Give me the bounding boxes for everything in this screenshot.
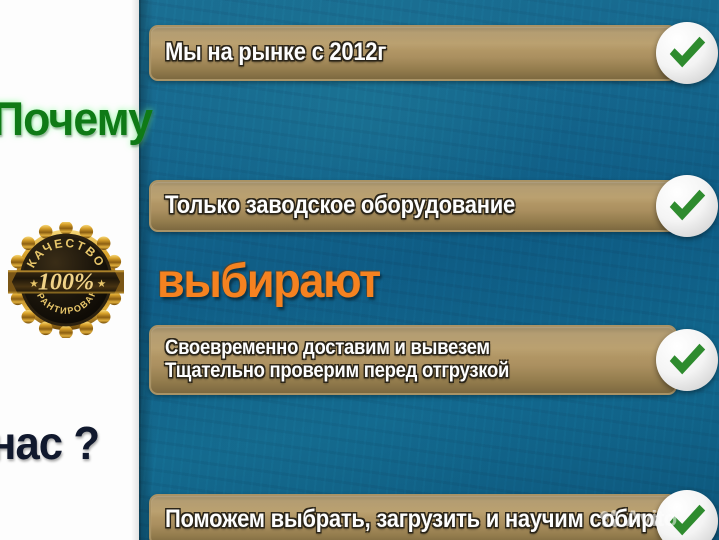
blue-panel-left-shadow [139,0,153,540]
check-mark-icon-4 [656,490,718,540]
feature-banner-3-line-2: Тщательно проверим перед отгрузкой [165,360,509,383]
feature-banner-2: Только заводское оборудование [149,180,677,232]
feature-banner-2-text: Только заводское оборудование [165,193,515,219]
feature-banner-4: Поможем выбрать, загрузить и научим соби… [149,494,677,540]
check-mark-icon-3 [656,329,718,391]
feature-banner-1: Мы на рынке с 2012г [149,25,677,81]
svg-text:100%: 100% [38,269,94,296]
quality-seal-icon: КАЧЕСТВО ГАРАНТИРОВАНО ★ ★ 100% [8,222,124,338]
headline-word-pochemu: Почему [0,95,152,142]
promo-poster: Мы на рынке с 2012г Только заводское обо… [0,0,719,540]
feature-banner-3: Своевременно доставим и вывезем Тщательн… [149,325,677,395]
check-mark-icon-2 [656,175,718,237]
svg-text:★: ★ [97,278,107,290]
check-mark-icon-1 [656,22,718,84]
feature-banner-3-line-1: Своевременно доставим и вывезем [165,337,509,360]
feature-banner-1-text: Мы на рынке с 2012г [165,40,386,66]
headline-word-vybirayut: выбирают [157,258,380,306]
feature-banner-4-text: Поможем выбрать, загрузить и научим соби… [165,507,677,533]
headline-word-nas: нас ? [0,420,99,466]
